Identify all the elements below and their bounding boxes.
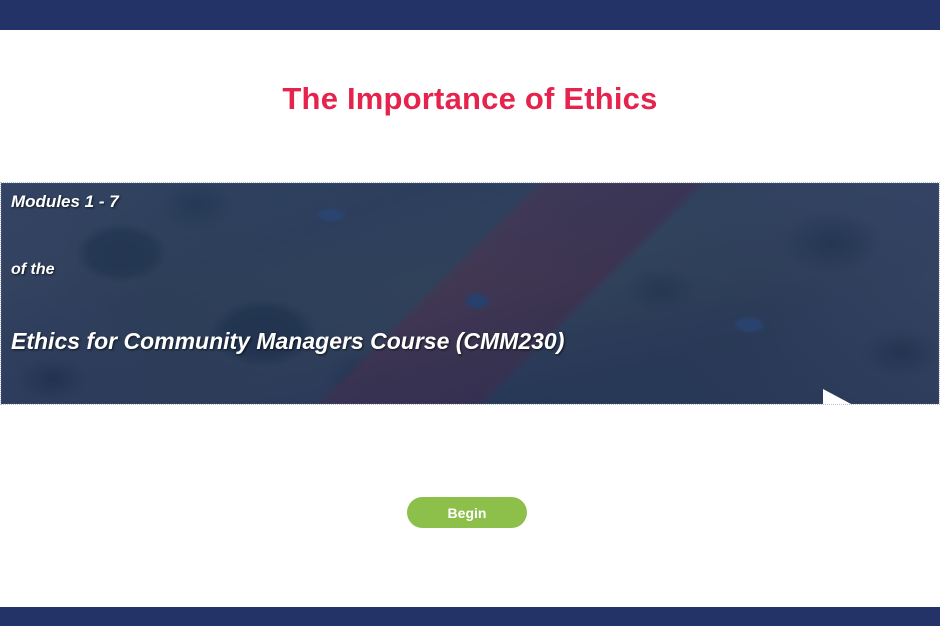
course-title-slide: The Importance of Ethics Modules 1 - 7 o… bbox=[0, 0, 940, 626]
bottom-navy-bar bbox=[0, 607, 940, 626]
cacm-logo: CACM bbox=[743, 381, 935, 405]
page-title: The Importance of Ethics bbox=[0, 80, 940, 118]
hero-banner: Modules 1 - 7 of the Ethics for Communit… bbox=[0, 182, 940, 405]
of-the-label: of the bbox=[11, 259, 531, 281]
course-name-label: Ethics for Community Managers Course (CM… bbox=[11, 327, 531, 355]
top-navy-bar bbox=[0, 0, 940, 30]
begin-button[interactable]: Begin bbox=[407, 497, 527, 528]
cacm-building-icon bbox=[761, 381, 921, 405]
modules-label: Modules 1 - 7 bbox=[11, 191, 531, 213]
hero-text-block: Modules 1 - 7 of the Ethics for Communit… bbox=[11, 191, 531, 355]
